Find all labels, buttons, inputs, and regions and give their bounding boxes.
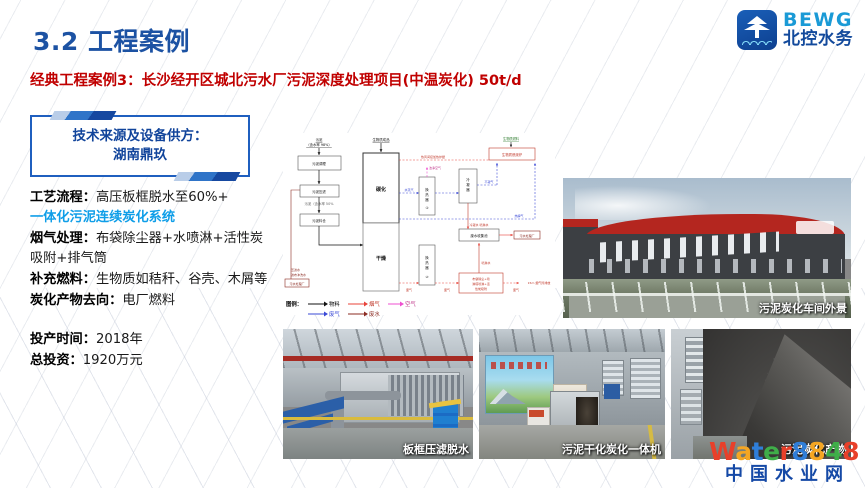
photo-filter-press: 板框压滤脱水 xyxy=(283,329,473,459)
svg-text:布袋除尘+喷: 布袋除尘+喷 xyxy=(472,276,490,281)
svg-text:物料: 物料 xyxy=(329,300,340,308)
svg-text:废气: 废气 xyxy=(329,310,340,318)
page-subtitle: 经典工程案例3：长沙经开区城北污水厂污泥深度处理项目(中温炭化) 50t/d xyxy=(30,69,522,90)
svg-text:废气: 废气 xyxy=(513,287,519,292)
svg-text:生物质燃料: 生物质燃料 xyxy=(503,136,520,141)
fact-list: 工艺流程：高压板框脱水至60%+ 一体化污泥连续炭化系统 烟气处理：布袋除尘器+… xyxy=(30,188,270,373)
fact-startdate: 投产时间：2018年 xyxy=(30,330,270,350)
fact-fuel-value: 生物质如秸秆、谷壳、木屑等 xyxy=(96,272,267,287)
fact-fuel: 补充燃料：生物质如秸秆、谷壳、木屑等 xyxy=(30,270,270,290)
svg-text:冷凝水 喷淋水: 冷凝水 喷淋水 xyxy=(470,222,489,227)
svg-text:空气: 空气 xyxy=(405,300,416,308)
svg-text:生物质燃烧炉: 生物质燃烧炉 xyxy=(502,152,523,157)
fact-fluegas: 烟气处理：布袋除尘器+水喷淋+活性炭吸附+排气筒 xyxy=(30,229,270,269)
svg-text:（含水率 98%）: （含水率 98%） xyxy=(306,142,332,147)
fact-process-highlight: 一体化污泥连续炭化系统 xyxy=(30,210,175,225)
svg-text:热风间接加热炉壁: 热风间接加热炉壁 xyxy=(421,154,445,159)
fact-product: 炭化产物去向：电厂燃料 xyxy=(30,291,270,311)
tech-source-line1: 技术来源及设备供方： xyxy=(73,128,208,145)
slide: 3.2 工程案例 经典工程案例3：长沙经开区城北污水厂污泥深度处理项目(中温炭化… xyxy=(0,0,865,488)
fact-product-value: 电厂燃料 xyxy=(122,293,175,308)
tech-source-line2: 湖南鼎玖 xyxy=(113,147,167,164)
fact-investment-label: 总投资： xyxy=(30,353,83,368)
svg-text:图例：: 图例： xyxy=(286,300,302,308)
fact-fluegas-label: 烟气处理： xyxy=(30,231,96,246)
svg-text:污水处理厂: 污水处理厂 xyxy=(289,281,304,286)
svg-text:碳化: 碳化 xyxy=(376,186,386,193)
pagoda-wave-icon xyxy=(737,10,777,50)
photo-integrated-machine: 污泥干化炭化一体机 xyxy=(479,329,665,459)
svg-text:性炭吸附: 性炭吸附 xyxy=(475,286,487,291)
svg-text:污泥: 污泥 xyxy=(316,137,323,142)
photo-plant-exterior: 污泥炭化车间外景 xyxy=(563,178,851,318)
svg-text:②: ② xyxy=(425,275,428,279)
process-flow-diagram: 污泥 （含水率 98%） 污泥调理 污泥压滤 污泥（含水率 50% 污泥料仓 压… xyxy=(283,133,555,315)
fact-startdate-label: 投产时间： xyxy=(30,332,96,347)
photo-caption-exterior: 污泥炭化车间外景 xyxy=(759,300,847,316)
fact-startdate-value: 2018年 xyxy=(96,332,143,347)
fact-product-label: 炭化产物去向： xyxy=(30,293,122,308)
svg-text:滤布冲洗水: 滤布冲洗水 xyxy=(291,272,306,277)
fact-process-value: 高压板框脱水至60%+ xyxy=(96,190,229,205)
tech-source-box: 技术来源及设备供方： 湖南鼎玖 xyxy=(30,115,250,177)
svg-text:污水处理厂: 污水处理厂 xyxy=(519,233,534,238)
photo-caption-filter-press: 板框压滤脱水 xyxy=(403,441,469,457)
svg-text:喷淋水: 喷淋水 xyxy=(481,260,490,265)
svg-text:污泥调理: 污泥调理 xyxy=(312,161,326,166)
svg-text:污泥（含水率 50%: 污泥（含水率 50% xyxy=(305,201,335,206)
svg-text:热解气: 热解气 xyxy=(514,213,523,218)
fact-fuel-label: 补充燃料： xyxy=(30,272,96,287)
svg-text:洁净空气: 洁净空气 xyxy=(429,165,441,170)
fact-investment: 总投资：1920万元 xyxy=(30,351,270,371)
building-logo-icon xyxy=(796,221,833,234)
fact-process: 工艺流程：高压板框脱水至60%+ 一体化污泥连续炭化系统 xyxy=(30,188,270,228)
svg-text:废气: 废气 xyxy=(444,287,450,292)
site-watermark: Water8848 中国水业网 xyxy=(709,439,859,484)
svg-text:烟气: 烟气 xyxy=(369,300,380,308)
svg-text:15m 烟气筒排放: 15m 烟气筒排放 xyxy=(528,280,551,285)
fact-process-label: 工艺流程： xyxy=(30,190,96,205)
fact-investment-value: 1920万元 xyxy=(83,353,143,368)
svg-text:废水收集池: 废水收集池 xyxy=(471,233,489,238)
svg-text:污泥压滤: 污泥压滤 xyxy=(312,189,326,194)
svg-text:废水: 废水 xyxy=(369,310,380,318)
svg-text:干燥: 干燥 xyxy=(376,255,387,262)
spacer xyxy=(30,312,270,330)
svg-text:不凝气: 不凝气 xyxy=(484,179,493,184)
svg-text:废气: 废气 xyxy=(406,287,412,292)
svg-text:水蒸汽: 水蒸汽 xyxy=(404,187,413,192)
page-title: 3.2 工程案例 xyxy=(33,22,190,58)
svg-text:污泥料仓: 污泥料仓 xyxy=(312,218,326,223)
svg-text:①: ① xyxy=(425,206,428,210)
watermark-cn: 中国水业网 xyxy=(709,466,859,484)
photo-caption-machine: 污泥干化炭化一体机 xyxy=(562,441,661,457)
svg-text:压滤水: 压滤水 xyxy=(291,267,300,272)
watermark-en: Water8848 xyxy=(709,439,859,464)
logo-text-cn: 北控水务 xyxy=(783,31,853,49)
bewg-logo: BEWG 北控水务 xyxy=(737,10,853,50)
svg-text:淋塔喷淋+活: 淋塔喷淋+活 xyxy=(472,281,490,286)
diagram-legend: 图例： 物料 烟气 空气 废气 废水 xyxy=(286,298,436,324)
svg-text:生物质成品: 生物质成品 xyxy=(373,137,391,142)
